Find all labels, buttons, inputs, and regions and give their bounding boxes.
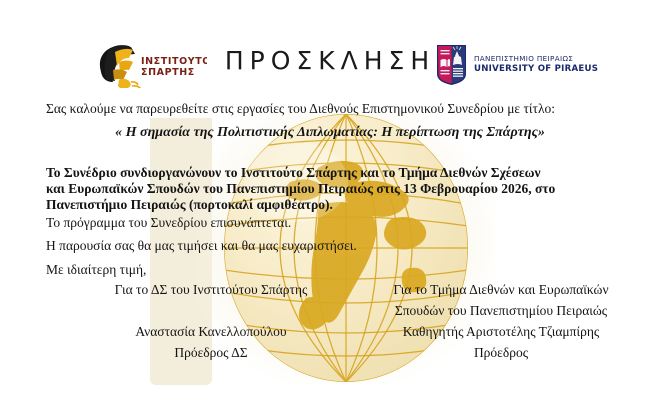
piraeus-name-greek: ΠΑΝΕΠΙΣΤΗΜΙΟ ΠΕΙΡΑΙΩΣ [474,54,598,64]
sparta-signer-name: Αναστασία Κανελλοπούλου [66,321,356,342]
invitation-page: ΙΝΣΤΙΤΟΥΤΟ ΣΠΑΡΤΗΣ ΠΡΟΣΚΛΗΣΗ [0,0,660,400]
piraeus-signer-name: Καθηγητής Αριστοτέλης Τζιαμπίρης [356,321,646,342]
piraeus-shield-icon [436,44,467,86]
document-header: ΙΝΣΤΙΤΟΥΤΟ ΣΠΑΡΤΗΣ ΠΡΟΣΚΛΗΣΗ [0,40,660,92]
conference-title: « Η σημασία της Πολιτιστικής Διπλωματίας… [0,125,660,141]
invitation-intro-line: Σας καλούμε να παρευρεθείτε στις εργασίε… [46,101,555,117]
signature-block-sparta: Για το ΔΣ του Ινστιτούτου Σπάρτης Αναστα… [66,279,356,363]
sparta-signer-org-line-1: Για το ΔΣ του Ινστιτούτου Σπάρτης [66,279,356,300]
piraeus-signer-org-line-1: Για το Τμήμα Διεθνών και Ευρωπαϊκών [356,279,646,300]
piraeus-name-english: UNIVERSITY OF PIRAEUS [474,64,598,76]
organizers-line-2: και Ευρωπαϊκών Σπουδών του Πανεπιστημίου… [46,181,555,197]
closing-salutation: Με ιδιαίτερη τιμή, [46,262,146,278]
piraeus-signer-role: Πρόεδρος [356,342,646,363]
signature-block-piraeus: Για το Τμήμα Διεθνών και Ευρωπαϊκών Σπου… [356,279,646,363]
programme-note: Το πρόγραμμα του Συνεδρίου επισυνάπτεται… [46,215,291,231]
sparta-signer-role: Πρόεδρος ΔΣ [66,342,356,363]
university-of-piraeus-logo: ΠΑΝΕΠΙΣΤΗΜΙΟ ΠΕΙΡΑΙΩΣ UNIVERSITY OF PIRA… [436,40,601,90]
organizers-line-3: Πανεπιστήμιο Πειραιώς (πορτοκαλί αμφιθέα… [46,197,333,213]
organizers-line-1: Το Συνέδριο συνδιοργανώνουν το Ινστιτούτ… [46,165,541,181]
piraeus-signer-org-line-2: Σπουδών του Πανεπιστημίου Πειραιώς [356,300,646,321]
presence-note: Η παρουσία σας θα μας τιμήσει και θα μας… [46,238,357,254]
piraeus-wordmark: ΠΑΝΕΠΙΣΤΗΜΙΟ ΠΕΙΡΑΙΩΣ UNIVERSITY OF PIRA… [474,54,598,75]
signature-spacer-left [66,300,356,321]
